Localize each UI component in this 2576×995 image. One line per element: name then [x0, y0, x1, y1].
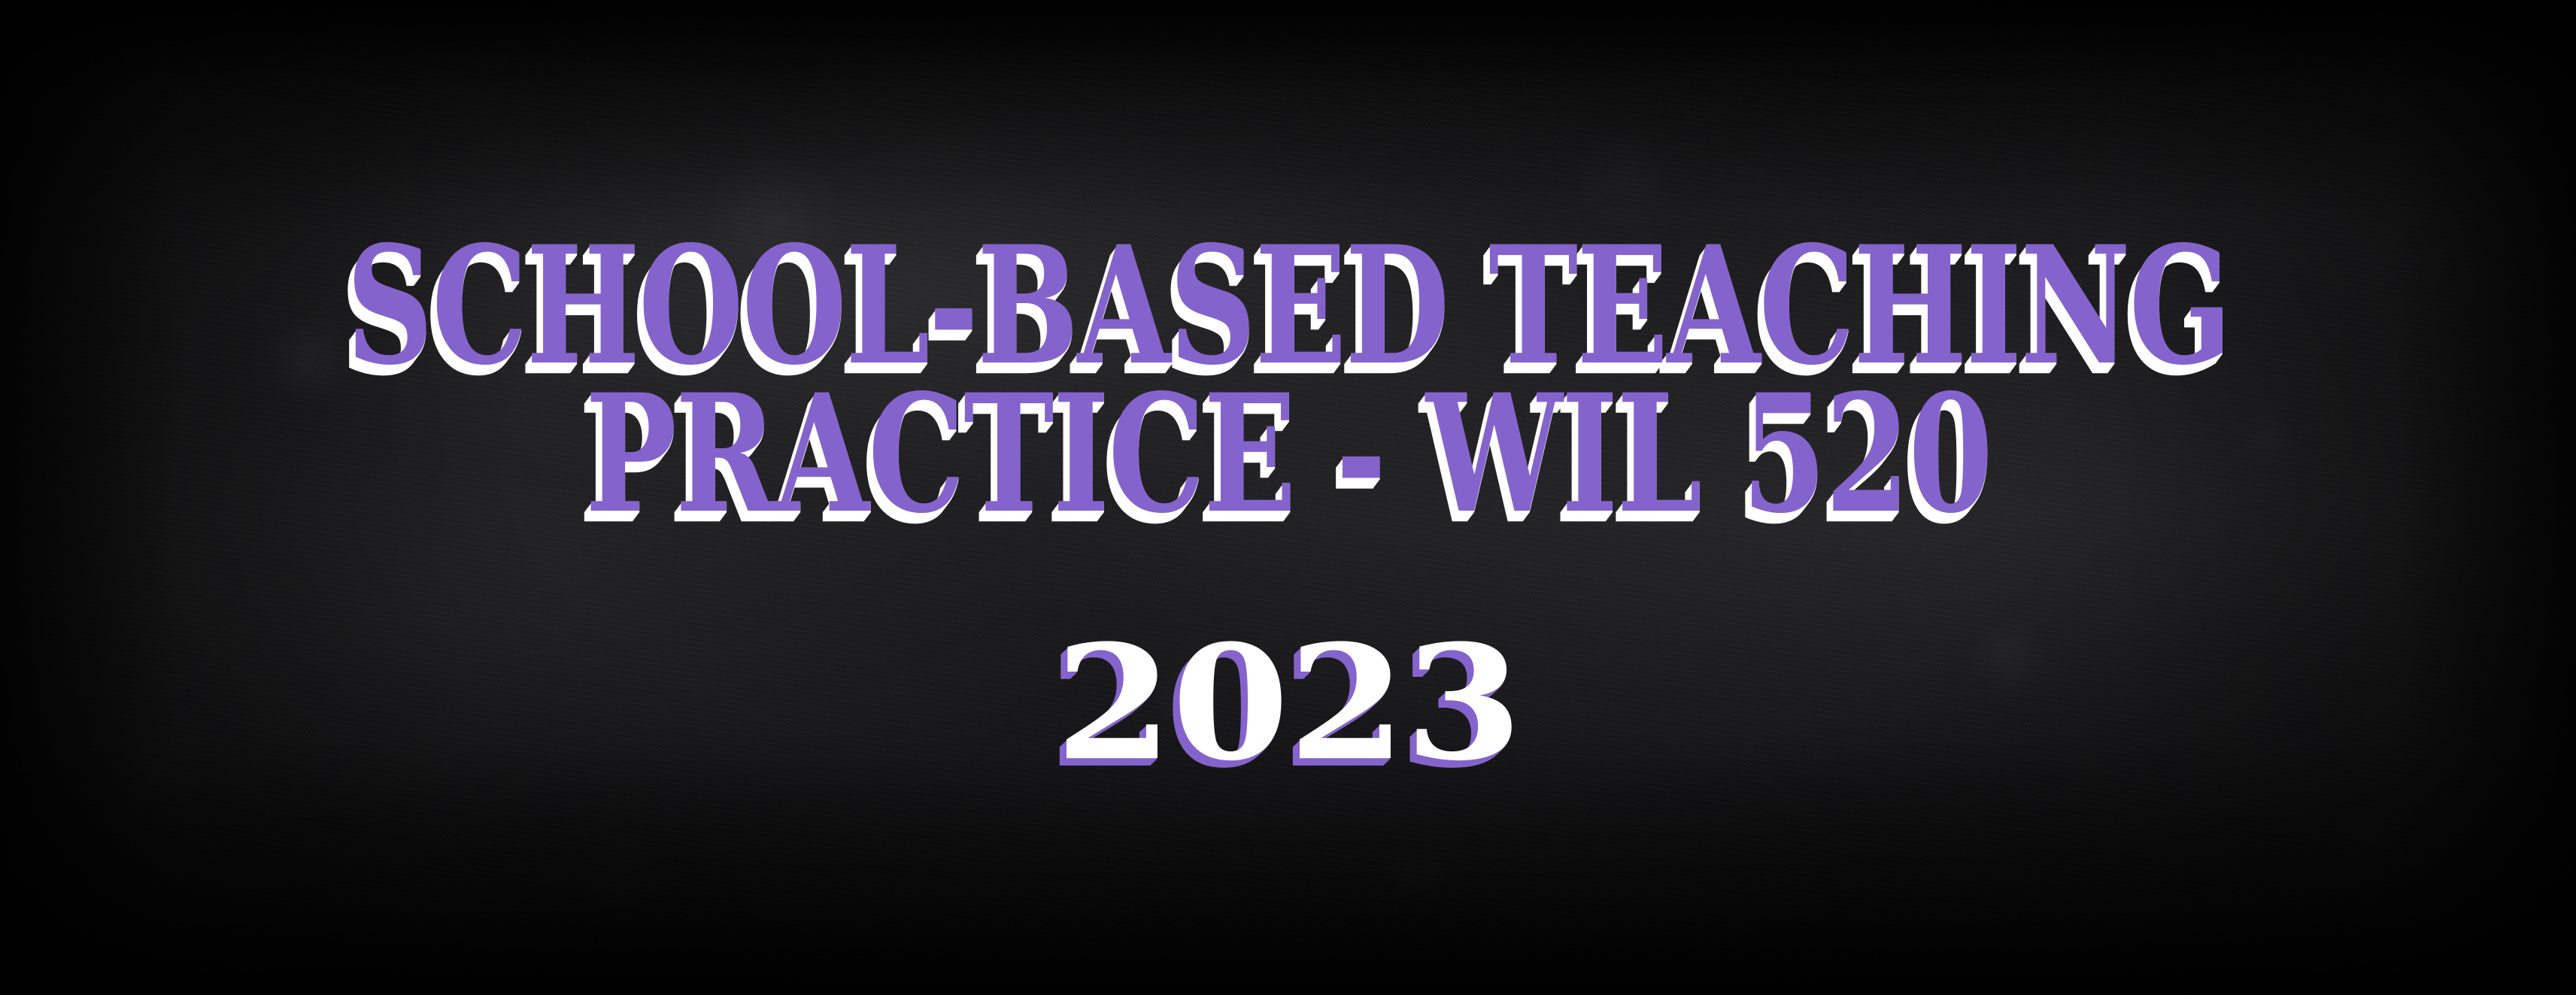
- course-title-line-2: PRACTICE - WIL 520: [585, 374, 1992, 536]
- year-label: 2023: [1055, 624, 1522, 782]
- title-slide: SCHOOL-BASED TEACHING PRACTICE - WIL 520…: [0, 0, 2576, 995]
- title-text-block: SCHOOL-BASED TEACHING PRACTICE - WIL 520…: [0, 0, 2576, 995]
